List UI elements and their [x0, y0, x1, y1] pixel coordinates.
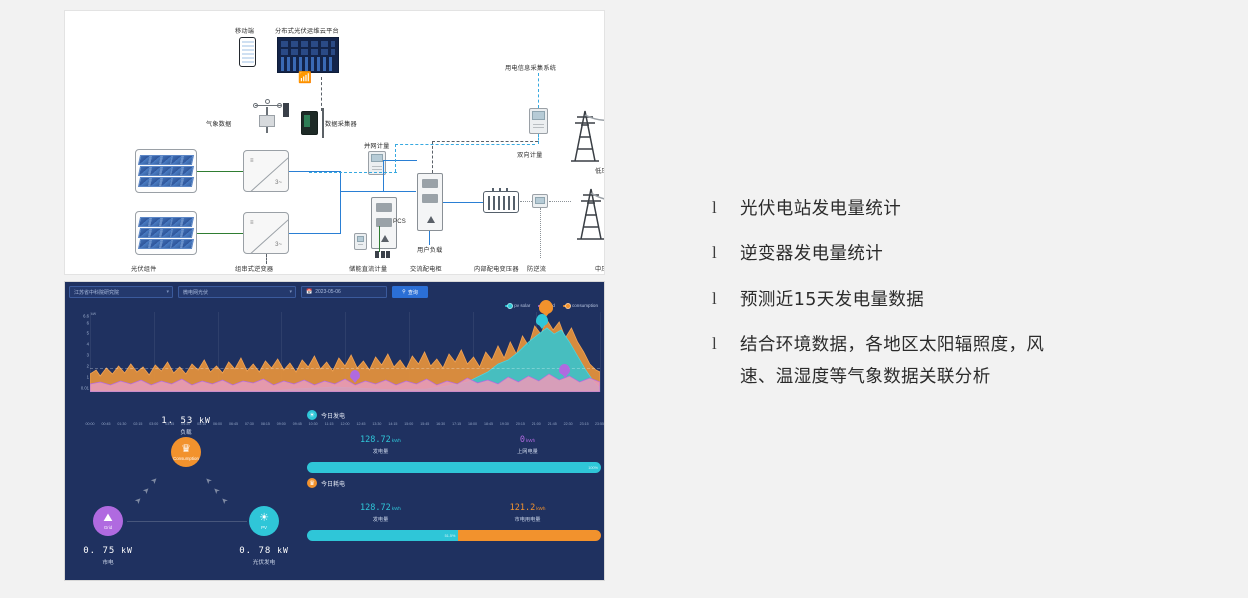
bullet-marker: l: [712, 287, 740, 312]
anti-backflow-drop: [540, 208, 541, 258]
y-tick-max: 6.6: [83, 314, 89, 319]
pv-unit: kW: [277, 546, 289, 555]
ac-riser: [340, 171, 341, 234]
bar-pct-label: 100%: [588, 466, 598, 470]
bidir-line-v: [432, 141, 433, 173]
load-line: [429, 231, 430, 245]
comms-line-power-info: [538, 73, 539, 108]
sun-icon: ☀: [307, 410, 317, 420]
peak-marker-consumption[interactable]: 6.6: [539, 300, 553, 314]
pv-number: 0. 78: [239, 546, 271, 556]
metric-label: 上网电量: [454, 448, 601, 455]
flow-arrow-pv-1: ➤: [219, 495, 230, 506]
flow-arrow-pv-2: ➤: [211, 485, 222, 496]
label-power-info-collection: 用电信息采集系统: [505, 63, 556, 72]
bullet-text: 预测近15天发电量数据: [740, 287, 924, 313]
factory-icon: ♛: [307, 478, 317, 488]
data-logger-icon: [301, 111, 318, 135]
peak-marker-pv[interactable]: 5.0: [536, 314, 548, 326]
flow-arrow-pv-3: ➤: [203, 475, 214, 486]
flow-arrow-grid-1: ➤: [133, 495, 144, 506]
pv-label: 光伏发电: [219, 558, 309, 566]
cloud-platform-screen-icon: [277, 37, 339, 73]
average-line: [90, 368, 600, 369]
stat-consumption-header: ♛ 今日耗电: [307, 478, 601, 488]
bar-segment-generation: 100%: [307, 462, 601, 473]
chevron-down-icon: ▾: [289, 289, 292, 295]
node-grid-label: Grid: [104, 525, 112, 530]
dc-line-bottom: [197, 233, 243, 234]
metric-unit: kWh: [536, 506, 545, 511]
power-info-meter-icon: [529, 108, 548, 134]
metric-unit: kWh: [392, 506, 401, 511]
bullet-text: 速、温湿度等气象数据关联分析: [740, 364, 991, 390]
ac-line-meter-top: [383, 160, 417, 161]
search-button[interactable]: ⚲ 查询: [392, 286, 428, 298]
comms-line-horizontal: [395, 144, 535, 145]
ac-line-bottom: [289, 233, 341, 234]
label-storage-dc-metering: 储能直流计量: [349, 264, 387, 273]
consumption-label: 负载: [131, 428, 241, 436]
y-tick: 4: [87, 342, 89, 347]
bullet-text: 光伏电站发电量统计: [740, 196, 901, 222]
flow-arrow-grid-2: ➤: [141, 485, 152, 496]
ac-distribution-cabinet-icon: [417, 173, 443, 231]
station-select-value: 江苏省中科院研究院: [74, 289, 119, 296]
storage-dc-line: [379, 226, 380, 252]
pv-array-top-icon: [135, 149, 197, 193]
y-tick: 3: [87, 353, 89, 358]
lv-grid-tower-icon: [565, 101, 605, 163]
node-consumption-label: Consumption: [173, 456, 199, 461]
label-pcs: PCS: [393, 219, 406, 225]
dashboard-toolbar: 江苏省中科院研究院 ▾ 微电网光伏 ▾ 📅 2023-05-06 ⚲ 查询: [65, 282, 605, 302]
legend-label-pv-solar: pv solar: [514, 303, 530, 308]
wifi-icon: 📶: [298, 73, 312, 84]
date-picker[interactable]: 📅 2023-05-06: [301, 286, 387, 298]
feature-bullet-list: l 光伏电站发电量统计 l 逆变器发电量统计 l 预测近15天发电量数据 l 结…: [712, 196, 1202, 409]
metric-label: 发电量: [307, 516, 454, 523]
bidir-line-h: [432, 141, 538, 142]
bullet-item-4-continued: 速、温湿度等气象数据关联分析: [712, 364, 1202, 390]
bar-segment-self: 51.5%: [307, 530, 458, 541]
sun-icon: ☀: [259, 513, 269, 524]
consumption-number: 1. 53: [161, 416, 193, 426]
label-grid-metering: 并网计量: [364, 141, 390, 150]
chevron-down-icon: ▾: [166, 289, 169, 295]
stat-consumption-bar: 51.5%: [307, 530, 601, 541]
node-pv-label: PV: [261, 525, 267, 530]
metric-grid-export: 0kWh 上网电量: [454, 429, 601, 455]
comms-line-down: [395, 144, 396, 172]
label-mv-grid: 中压电网: [595, 264, 605, 273]
stat-consumption-metrics: 128.72kWh 发电量 121.2kWh 市电用电量: [307, 497, 601, 523]
label-bidirectional-metering: 双向计量: [517, 150, 543, 159]
chart-plot-area: 6.6 5.0 1.9 0.96: [90, 312, 600, 392]
grid-value: 0. 75 kW 市电: [64, 540, 153, 566]
transformer-icon: [483, 191, 519, 213]
y-tick: 6: [87, 321, 89, 326]
mv-grid-tower-icon: [571, 179, 605, 241]
stat-consumption-title: 今日耗电: [321, 479, 345, 488]
metric-value: 128.72: [360, 503, 391, 513]
stat-panel-generation: ☀ 今日发电 128.72kWh 发电量 0kWh 上网电量 100%: [307, 410, 601, 473]
chart-y-axis: 0.01 1 2 3 4 5 6 6.6: [73, 310, 89, 402]
mobile-phone-icon: [239, 37, 256, 67]
comms-line-meter-down: [538, 134, 539, 144]
anti-backflow-meter-icon: [532, 194, 548, 208]
y-tick: 1: [87, 375, 89, 380]
bullet-item-3: l 预测近15天发电量数据: [712, 287, 1202, 313]
device-select-value: 微电网光伏: [183, 289, 208, 296]
label-mobile: 移动端: [235, 26, 254, 35]
antenna-icon: [283, 103, 289, 117]
metric-generation-output: 128.72kWh 发电量: [307, 429, 454, 455]
flow-link-grid-pv: [127, 521, 247, 522]
comms-line-to-logger: [309, 172, 397, 173]
inverter-comms-drop: [266, 254, 267, 264]
bullet-text: 结合环境数据，各地区太阳辐照度，风: [740, 332, 1044, 358]
metric-label: 发电量: [307, 448, 454, 455]
label-string-inverter: 组串式逆变器: [235, 264, 273, 273]
bullet-marker: l: [712, 332, 740, 357]
y-tick: 0.01: [81, 386, 89, 391]
power-timeseries-chart: 0.01 1 2 3 4 5 6 6.6 kW: [65, 310, 605, 402]
pv-value: 0. 78 kW 光伏发电: [219, 540, 309, 566]
stat-generation-metrics: 128.72kWh 发电量 0kWh 上网电量: [307, 429, 601, 455]
bullet-text: 逆变器发电量统计: [740, 241, 883, 267]
line-cabinet-transformer: [443, 202, 483, 203]
flow-arrow-grid-3: ➤: [149, 475, 160, 486]
metric-self-generation: 128.72kWh 发电量: [307, 497, 454, 523]
tower-icon: ⛰: [103, 513, 112, 524]
dc-line-top: [197, 171, 243, 172]
metric-unit: kWh: [526, 438, 535, 443]
string-inverter-top-icon: ≡3~: [243, 150, 289, 192]
bullet-item-2: l 逆变器发电量统计: [712, 241, 1202, 267]
date-value: 2023-05-06: [315, 289, 341, 295]
metric-grid-consumption: 121.2kWh 市电用电量: [454, 497, 601, 523]
consumption-value: 1. 53 kW 负载: [131, 410, 241, 436]
wifi-link-line: [321, 77, 322, 111]
stat-generation-title: 今日发电: [321, 411, 345, 420]
dot-line-right: [549, 201, 571, 202]
label-internal-transformer: 内部配电变压器: [474, 264, 519, 273]
calendar-icon: 📅: [306, 289, 312, 295]
label-ac-distribution-cabinet: 交流配电柜: [410, 264, 442, 273]
bullet-marker: l: [712, 196, 740, 221]
label-data-logger: 数据采集器: [325, 119, 357, 128]
metric-value: 128.72: [360, 435, 391, 445]
grid-unit: kW: [121, 546, 133, 555]
metric-value: 121.2: [510, 503, 536, 513]
mid-marker-grid[interactable]: 0.96: [350, 370, 360, 380]
system-architecture-diagram: 移动端 分布式光伏运维云平台 用电信息采集系统 📶 气象数据 数据采集器 并网计…: [64, 10, 605, 275]
node-grid[interactable]: ⛰ Grid: [93, 506, 123, 536]
legend-item-consumption[interactable]: consumption: [563, 303, 598, 308]
node-pv[interactable]: ☀ PV: [249, 506, 279, 536]
label-lv-grid: 低压电网: [595, 166, 605, 175]
bullet-item-1: l 光伏电站发电量统计: [712, 196, 1202, 222]
bullet-item-4: l 结合环境数据，各地区太阳辐照度，风: [712, 332, 1202, 358]
consumption-unit: kW: [199, 416, 211, 425]
dot-line-left: [520, 201, 532, 202]
weather-station-icon: [251, 99, 285, 133]
metric-unit: kWh: [392, 438, 401, 443]
ac-line-to-meter: [383, 161, 384, 192]
peak-marker-grid[interactable]: 1.9: [559, 364, 570, 375]
legend-marker-consumption: [563, 305, 570, 307]
label-anti-backflow: 防逆流: [527, 264, 546, 273]
search-button-label: 查询: [408, 289, 418, 296]
stat-generation-header: ☀ 今日发电: [307, 410, 601, 420]
factory-icon: ♛: [181, 444, 191, 455]
stat-panel-consumption: ♛ 今日耗电 128.72kWh 发电量 121.2kWh 市电用电量 51.5…: [307, 478, 601, 541]
battery-cells-icon: [375, 251, 390, 258]
pv-array-bottom-icon: [135, 211, 197, 255]
search-icon: ⚲: [402, 289, 406, 295]
legend-item-pv-solar[interactable]: pv solar: [505, 303, 530, 308]
bullet-marker: l: [712, 241, 740, 266]
string-inverter-bottom-icon: ≡3~: [243, 212, 289, 254]
label-weather-data: 气象数据: [206, 119, 232, 128]
grid-label: 市电: [64, 558, 153, 566]
label-pv-modules: 光伏组件: [131, 264, 157, 273]
grid-number: 0. 75: [83, 546, 115, 556]
device-select[interactable]: 微电网光伏 ▾: [178, 286, 296, 298]
label-user-load: 用户负载: [417, 245, 443, 254]
storage-dc-meter-icon: [354, 233, 367, 250]
label-cloud-platform: 分布式光伏运维云平台: [275, 26, 339, 35]
bar-segment-grid: [458, 530, 601, 541]
slide-root: 移动端 分布式光伏运维云平台 用电信息采集系统 📶 气象数据 数据采集器 并网计…: [0, 0, 1248, 598]
y-tick: 2: [87, 364, 89, 369]
y-tick: 5: [87, 331, 89, 336]
station-select[interactable]: 江苏省中科院研究院 ▾: [69, 286, 173, 298]
monitoring-dashboard-screenshot: 江苏省中科院研究院 ▾ 微电网光伏 ▾ 📅 2023-05-06 ⚲ 查询 pv…: [64, 281, 605, 581]
bar-pct-label: 51.5%: [445, 534, 456, 538]
series-grid: [90, 312, 600, 392]
metric-label: 市电用电量: [454, 516, 601, 523]
metric-value: 0: [520, 435, 525, 445]
ac-line-to-cabinet: [340, 191, 416, 192]
legend-label-consumption: consumption: [572, 303, 598, 308]
node-consumption[interactable]: ♛ Consumption: [171, 437, 201, 467]
stat-generation-bar: 100%: [307, 462, 601, 473]
legend-marker-pv-solar: [505, 305, 512, 307]
energy-flow-diagram: 1. 53 kW 负载 ♛ Consumption ⛰ Grid 0. 75 k…: [71, 410, 303, 574]
